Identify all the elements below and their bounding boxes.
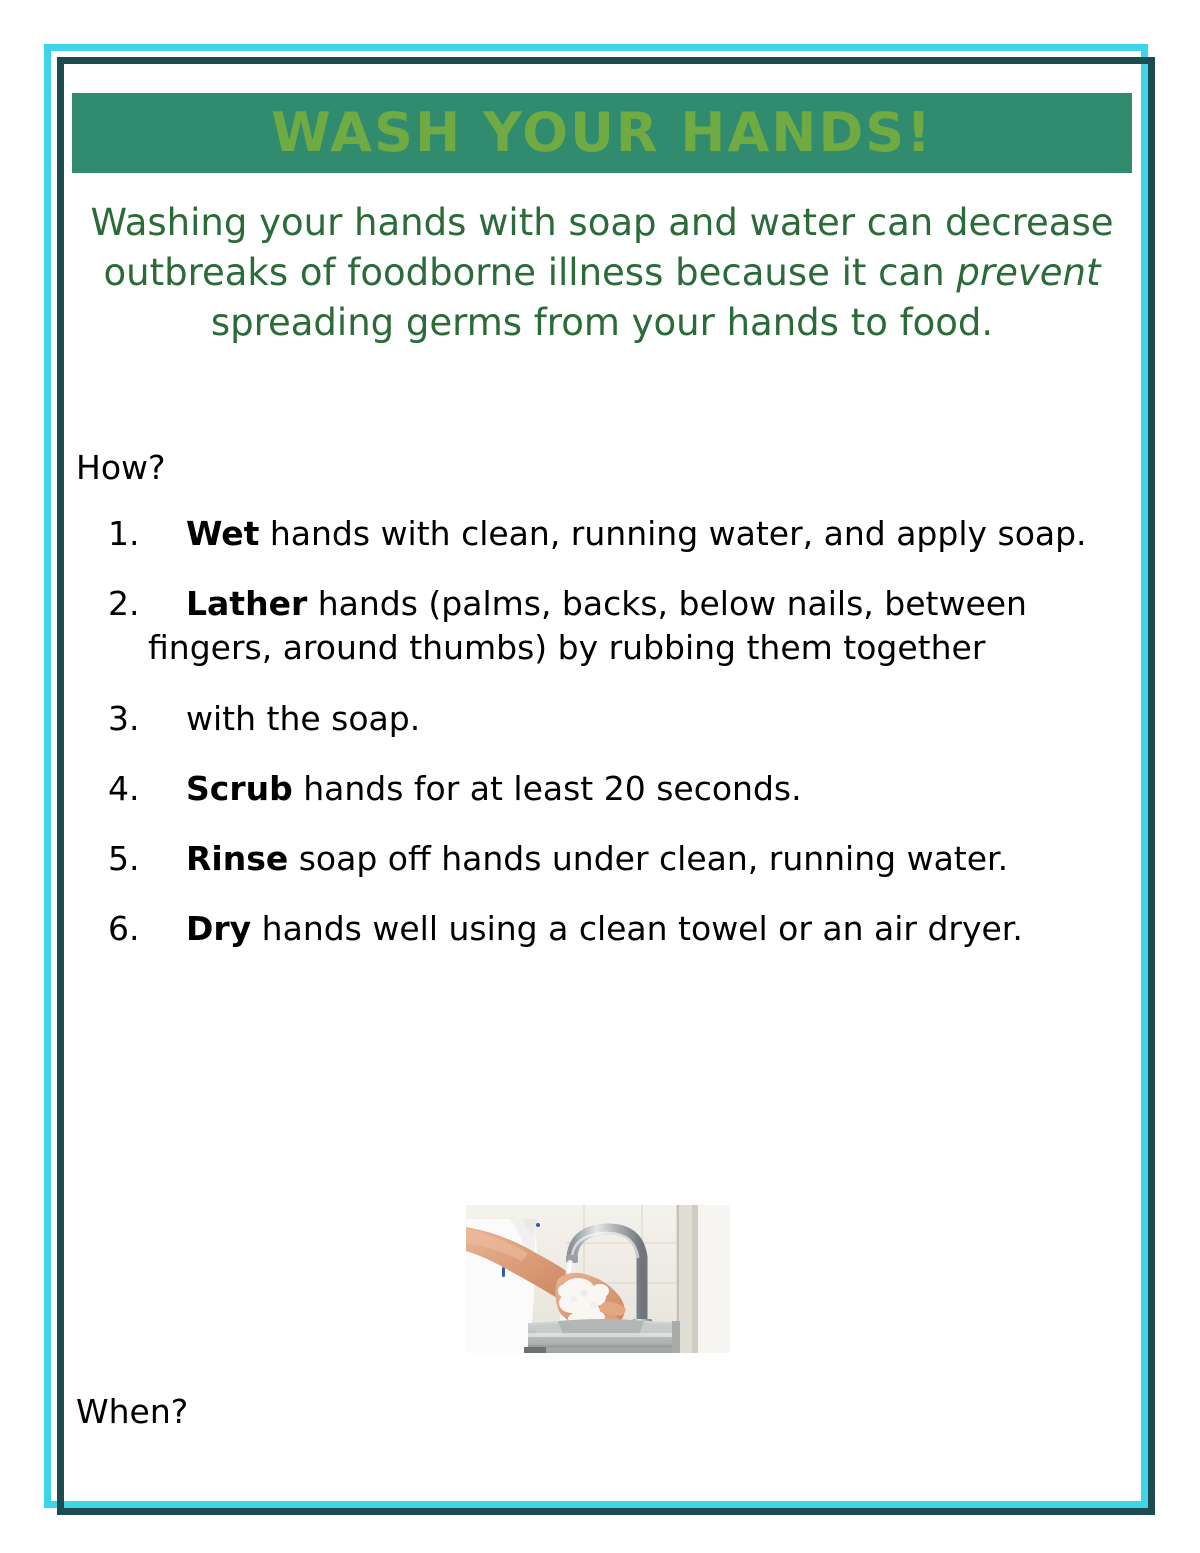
list-item: 5. Rinse soap off hands under clean, run… — [76, 837, 1106, 881]
step-number: 3. — [108, 697, 140, 741]
intro-emphasis-prevent: prevent — [956, 251, 1100, 294]
step-number: 2. — [108, 582, 140, 626]
step-keyword: Wet — [186, 514, 259, 553]
title-banner: WASH YOUR HANDS! — [72, 93, 1132, 173]
list-item: 1. Wet hands with clean, running water, … — [76, 512, 1106, 556]
step-number: 5. — [108, 837, 140, 881]
page-title: WASH YOUR HANDS! — [271, 106, 933, 160]
step-number: 6. — [108, 907, 140, 951]
step-rest: hands well using a clean towel or an air… — [251, 909, 1023, 948]
step-number: 1. — [108, 512, 140, 556]
step-rest: soap off hands under clean, running wate… — [288, 839, 1008, 878]
step-text: Rinse soap off hands under clean, runnin… — [148, 839, 1008, 878]
when-heading: When? — [76, 1392, 188, 1431]
step-text: Dry hands well using a clean towel or an… — [148, 909, 1023, 948]
list-item: 4. Scrub hands for at least 20 seconds. — [76, 767, 1106, 811]
list-item: 3. with the soap. — [76, 697, 1106, 741]
handwashing-photo-wrap — [466, 1205, 730, 1353]
poster-page: WASH YOUR HANDS! Washing your hands with… — [0, 0, 1200, 1553]
step-keyword: Lather — [186, 584, 307, 623]
step-text: Scrub hands for at least 20 seconds. — [148, 769, 802, 808]
step-keyword: Dry — [186, 909, 251, 948]
step-keyword: Scrub — [186, 769, 293, 808]
list-item: 2. Lather hands (palms, backs, below nai… — [76, 582, 1106, 670]
poster-content: WASH YOUR HANDS! Washing your hands with… — [72, 80, 1132, 1500]
step-text: Wet hands with clean, running water, and… — [148, 514, 1087, 553]
intro-paragraph: Washing your hands with soap and water c… — [72, 198, 1132, 348]
step-keyword: Rinse — [186, 839, 288, 878]
list-item: 6. Dry hands well using a clean towel or… — [76, 907, 1106, 951]
step-rest: with the soap. — [186, 699, 420, 738]
handwashing-photo — [466, 1205, 730, 1353]
step-rest: hands with clean, running water, and app… — [259, 514, 1086, 553]
step-text: with the soap. — [148, 699, 420, 738]
intro-text-part2: spreading germs from your hands to food. — [211, 301, 993, 344]
step-text: Lather hands (palms, backs, below nails,… — [148, 584, 1027, 667]
step-number: 4. — [108, 767, 140, 811]
steps-list: 1. Wet hands with clean, running water, … — [76, 512, 1106, 978]
how-heading: How? — [76, 448, 166, 487]
step-rest: hands for at least 20 seconds. — [293, 769, 802, 808]
